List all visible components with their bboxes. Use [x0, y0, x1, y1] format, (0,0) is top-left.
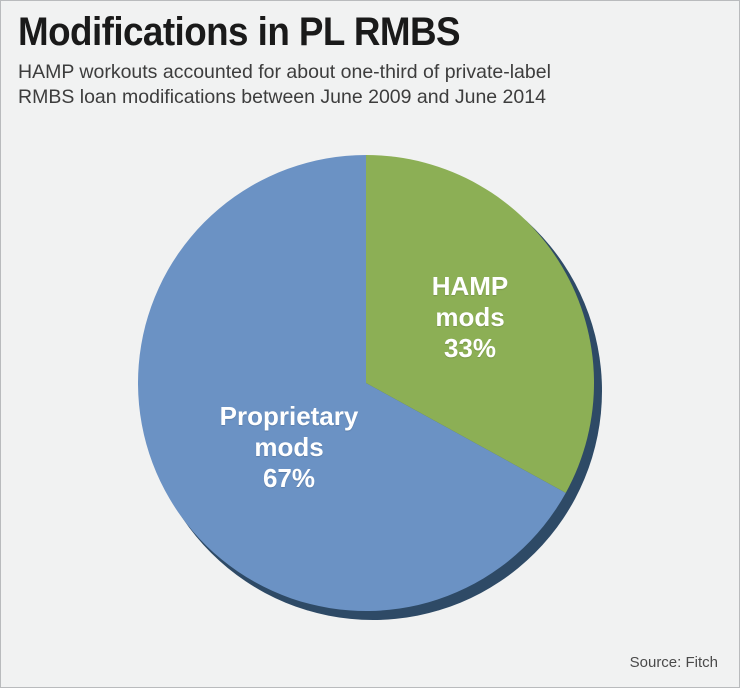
pie-chart: HAMP mods 33% Proprietary mods 67%: [1, 1, 740, 688]
source-attribution: Source: Fitch: [630, 654, 718, 671]
chart-canvas: Modifications in PL RMBS HAMP workouts a…: [0, 0, 740, 688]
pie-chart-graphic: [1, 1, 740, 688]
